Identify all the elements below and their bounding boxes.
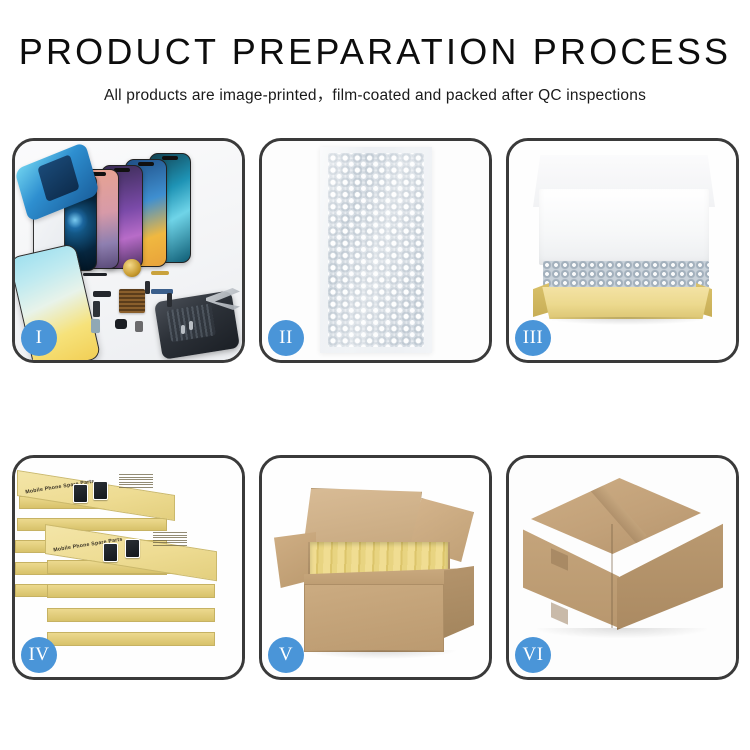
- packing-tape: [531, 478, 701, 554]
- flex-cable-part: [151, 271, 169, 275]
- box-side: [47, 608, 215, 622]
- step-image-5: V: [262, 458, 489, 677]
- open-carton: [278, 480, 472, 656]
- bubble-pattern: [328, 153, 424, 347]
- flex-cable-part: [167, 293, 172, 307]
- foam-sheet: [539, 189, 709, 265]
- step-panel-4: Mobile Phone Spare Parts: [12, 455, 245, 680]
- sim-tray-part: [91, 319, 100, 333]
- step-image-1: I: [15, 141, 242, 360]
- connector-part: [93, 291, 111, 297]
- sealed-carton: [523, 478, 723, 658]
- screw-part: [181, 325, 185, 334]
- small-parts-group: [85, 263, 205, 355]
- box-spec-lines: [153, 532, 187, 548]
- box-phone-image: [93, 481, 108, 500]
- step-image-6: VI: [509, 458, 736, 677]
- screw-part: [189, 321, 193, 330]
- stacked-box: [47, 582, 215, 600]
- step-badge-5: V: [268, 637, 304, 673]
- bubble-wrap-sheet: [320, 147, 432, 353]
- notch-icon: [138, 162, 154, 166]
- stacked-box-top-left: Mobile Phone Spare Parts: [17, 470, 175, 504]
- box-phone-image: [73, 484, 88, 503]
- step-image-2: II: [262, 141, 489, 360]
- connector-part: [93, 301, 100, 317]
- steps-grid: I II: [12, 138, 738, 680]
- stacked-box: [47, 606, 215, 624]
- stacked-box-top-right: Mobile Phone Spare Parts: [45, 524, 217, 562]
- step-panel-5: V: [259, 455, 492, 680]
- box-front-panel: [537, 287, 715, 319]
- box-side: [47, 584, 215, 598]
- wallpaper-graphic: [62, 207, 88, 233]
- bubble-wrapped-item: [543, 261, 709, 289]
- step-badge-3: III: [515, 320, 551, 356]
- carton-side-face: [444, 566, 474, 638]
- flex-cable-part: [145, 281, 150, 294]
- drop-shadow: [306, 650, 456, 659]
- header: PRODUCT PREPARATION PROCESS All products…: [0, 0, 750, 105]
- carton-tab: [551, 602, 568, 625]
- drop-shadow: [537, 628, 707, 638]
- camera-part: [115, 319, 127, 329]
- carton-back-flap: [304, 488, 422, 550]
- page-title: PRODUCT PREPARATION PROCESS: [0, 34, 750, 70]
- step-panel-3: III: [506, 138, 739, 363]
- box-side: [47, 632, 215, 646]
- drop-shadow: [543, 317, 709, 325]
- step-panel-6: VI: [506, 455, 739, 680]
- step-badge-6: VI: [515, 637, 551, 673]
- notch-icon: [162, 156, 178, 160]
- carton-fold-line: [611, 524, 613, 628]
- step-image-3: III: [509, 141, 736, 360]
- step-panel-1: I: [12, 138, 245, 363]
- box-spec-lines: [119, 474, 153, 490]
- box-phone-image: [103, 543, 118, 562]
- chip-board-part: [119, 289, 145, 313]
- step-badge-4: IV: [21, 637, 57, 673]
- step-panel-2: II: [259, 138, 492, 363]
- flex-cable-part: [83, 273, 107, 276]
- page-subtitle: All products are image-printed，film-coat…: [0, 83, 750, 105]
- step-badge-1: I: [21, 320, 57, 356]
- speaker-part: [123, 259, 141, 277]
- carton-front-face: [304, 584, 444, 652]
- stacked-box: [47, 630, 215, 648]
- step-badge-2: II: [268, 320, 304, 356]
- box-phone-image: [125, 539, 140, 558]
- button-part: [135, 321, 143, 332]
- product-preparation-infographic: PRODUCT PREPARATION PROCESS All products…: [0, 0, 750, 750]
- step-image-4: Mobile Phone Spare Parts: [15, 458, 242, 677]
